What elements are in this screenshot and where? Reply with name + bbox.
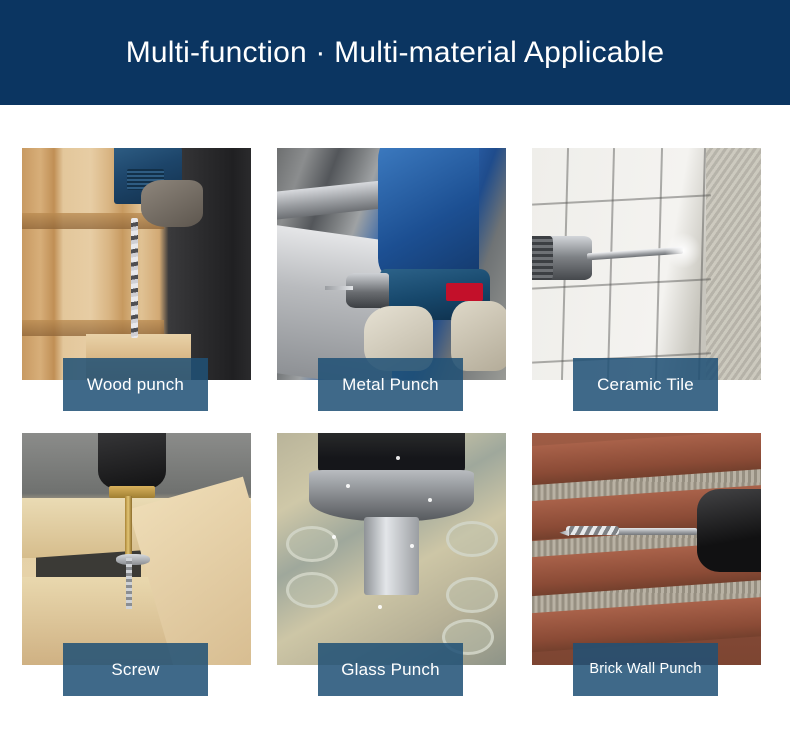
- driver-icon: [98, 433, 167, 489]
- scene-ceramic-tile-drilling: [532, 148, 761, 380]
- core-bit-icon: [364, 517, 419, 596]
- card-label-text: Brick Wall Punch: [589, 662, 701, 677]
- application-card-metal-punch[interactable]: Metal Punch: [277, 148, 506, 411]
- application-card-ceramic-tile[interactable]: Ceramic Tile: [532, 148, 761, 411]
- brand-badge: [446, 283, 483, 302]
- card-photo-brick-wall-punch: [532, 433, 761, 665]
- screw-icon: [126, 558, 132, 609]
- card-label-ceramic-tile: Ceramic Tile: [573, 358, 718, 411]
- scene-metal-drilling: [277, 148, 506, 380]
- scene-wood-drilling: [22, 148, 251, 380]
- application-card-glass-punch[interactable]: Glass Punch: [277, 433, 506, 696]
- application-card-brick-wall-punch[interactable]: Brick Wall Punch: [532, 433, 761, 696]
- masonry-bit-icon: [566, 526, 619, 535]
- card-label-brick-wall-punch: Brick Wall Punch: [573, 643, 718, 696]
- auger-bit-icon: [131, 218, 138, 339]
- page-title: Multi-function · Multi-material Applicab…: [126, 38, 665, 68]
- hex-bit-icon: [125, 496, 132, 559]
- card-label-text: Ceramic Tile: [597, 376, 694, 393]
- header-banner: Multi-function · Multi-material Applicab…: [0, 0, 790, 105]
- card-label-text: Metal Punch: [342, 376, 439, 393]
- drill-bit-icon: [325, 286, 352, 290]
- card-photo-wood-punch: [22, 148, 251, 380]
- application-card-grid: Wood punch Metal Punch: [0, 105, 790, 696]
- card-label-text: Glass Punch: [341, 661, 440, 678]
- scene-screw-driving: [22, 433, 251, 665]
- drill-icon: [697, 489, 761, 573]
- application-card-screw[interactable]: Screw: [22, 433, 251, 696]
- card-label-metal-punch: Metal Punch: [318, 358, 463, 411]
- card-photo-metal-punch: [277, 148, 506, 380]
- card-label-screw: Screw: [63, 643, 208, 696]
- card-label-text: Screw: [111, 661, 159, 678]
- card-photo-ceramic-tile: [532, 148, 761, 380]
- card-label-glass-punch: Glass Punch: [318, 643, 463, 696]
- card-photo-screw: [22, 433, 251, 665]
- application-card-wood-punch[interactable]: Wood punch: [22, 148, 251, 411]
- scene-brick-drilling: [532, 433, 761, 665]
- card-photo-glass-punch: [277, 433, 506, 665]
- card-label-text: Wood punch: [87, 376, 184, 393]
- card-label-wood-punch: Wood punch: [63, 358, 208, 411]
- scene-glass-drilling: [277, 433, 506, 665]
